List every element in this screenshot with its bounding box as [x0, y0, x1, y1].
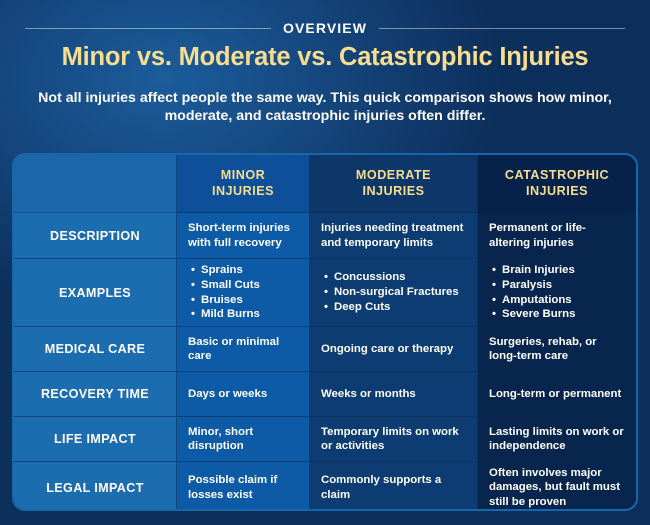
infographic-root: OVERVIEW Minor vs. Moderate vs. Catastro…: [0, 0, 650, 525]
table-row: MEDICAL CARE Basic or minimal care Ongoi…: [14, 327, 636, 372]
cell-examples-minor: SprainsSmall CutsBruisesMild Burns: [177, 259, 310, 327]
table-row: EXAMPLES SprainsSmall CutsBruisesMild Bu…: [14, 259, 636, 327]
row-label-legal-impact: LEGAL IMPACT: [14, 462, 177, 509]
bullet-item: Severe Burns: [502, 307, 625, 322]
row-label-text: DESCRIPTION: [25, 229, 165, 243]
header-catastrophic-line2: INJURIES: [489, 184, 625, 199]
bullet-item: Paralysis: [502, 278, 625, 293]
header-moderate-line2: INJURIES: [321, 184, 466, 199]
row-label-life-impact: LIFE IMPACT: [14, 417, 177, 462]
divider-line-left: [25, 28, 271, 29]
cell-medical-care-moderate: Ongoing care or therapy: [310, 327, 478, 372]
row-label-recovery-time: RECOVERY TIME: [14, 372, 177, 417]
row-label-text: MEDICAL CARE: [25, 342, 165, 356]
cell-text: Short-term injuries with full recovery: [188, 221, 298, 250]
bullet-item: Concussions: [334, 270, 466, 285]
comparison-table: MINOR INJURIES MODERATE INJURIES CATASTR…: [14, 155, 636, 509]
cell-medical-care-catastrophic: Surgeries, rehab, or long-term care: [478, 327, 636, 372]
cell-text: Long-term or permanent: [489, 387, 625, 401]
row-label-medical-care: MEDICAL CARE: [14, 327, 177, 372]
cell-life-impact-minor: Minor, short disruption: [177, 417, 310, 462]
page-subtitle: Not all injuries affect people the same …: [11, 89, 639, 126]
divider-line-right: [379, 28, 625, 29]
header-minor-line1: MINOR: [188, 168, 298, 183]
row-label-description: DESCRIPTION: [14, 213, 177, 259]
cell-text: Lasting limits on work or independence: [489, 425, 625, 454]
bullet-item: Amputations: [502, 293, 625, 308]
comparison-table-container: MINOR INJURIES MODERATE INJURIES CATASTR…: [12, 153, 638, 511]
bullet-item: Deep Cuts: [334, 300, 466, 315]
bullet-item: Small Cuts: [201, 278, 298, 293]
bullet-list: SprainsSmall CutsBruisesMild Burns: [188, 263, 298, 322]
cell-text: Commonly supports a claim: [321, 473, 466, 502]
cell-text: Permanent or life-altering injuries: [489, 221, 625, 250]
row-label-text: EXAMPLES: [25, 286, 165, 300]
bullet-item: Mild Burns: [201, 307, 298, 322]
cell-description-catastrophic: Permanent or life-altering injuries: [478, 213, 636, 259]
bullet-item: Bruises: [201, 293, 298, 308]
cell-recovery-time-moderate: Weeks or months: [310, 372, 478, 417]
overview-eyebrow-row: OVERVIEW: [0, 20, 650, 36]
bullet-list: ConcussionsNon-surgical FracturesDeep Cu…: [321, 270, 466, 314]
cell-description-minor: Short-term injuries with full recovery: [177, 213, 310, 259]
cell-text: Minor, short disruption: [188, 425, 298, 454]
header-catastrophic-line1: CATASTROPHIC: [489, 168, 625, 183]
cell-text: Temporary limits on work or activities: [321, 425, 466, 454]
header-cell-minor: MINOR INJURIES: [177, 155, 310, 213]
row-label-text: LIFE IMPACT: [25, 432, 165, 446]
bullet-item: Sprains: [201, 263, 298, 278]
row-label-examples: EXAMPLES: [14, 259, 177, 327]
cell-text: Weeks or months: [321, 387, 466, 401]
bullet-list: Brain InjuriesParalysisAmputationsSevere…: [489, 263, 625, 322]
cell-examples-catastrophic: Brain InjuriesParalysisAmputationsSevere…: [478, 259, 636, 327]
header-cell-moderate: MODERATE INJURIES: [310, 155, 478, 213]
cell-legal-impact-moderate: Commonly supports a claim: [310, 462, 478, 509]
cell-legal-impact-catastrophic: Often involves major damages, but fault …: [478, 462, 636, 509]
cell-text: Surgeries, rehab, or long-term care: [489, 335, 625, 364]
cell-examples-moderate: ConcussionsNon-surgical FracturesDeep Cu…: [310, 259, 478, 327]
cell-text: Days or weeks: [188, 387, 298, 401]
table-row: DESCRIPTION Short-term injuries with ful…: [14, 213, 636, 259]
cell-medical-care-minor: Basic or minimal care: [177, 327, 310, 372]
cell-recovery-time-catastrophic: Long-term or permanent: [478, 372, 636, 417]
cell-text: Basic or minimal care: [188, 335, 298, 364]
cell-text: Injuries needing treatment and temporary…: [321, 221, 466, 250]
bullet-item: Non-surgical Fractures: [334, 285, 466, 300]
table-header-row: MINOR INJURIES MODERATE INJURIES CATASTR…: [14, 155, 636, 213]
cell-life-impact-catastrophic: Lasting limits on work or independence: [478, 417, 636, 462]
header-section: OVERVIEW Minor vs. Moderate vs. Catastro…: [0, 0, 650, 126]
row-label-text: LEGAL IMPACT: [25, 481, 165, 495]
cell-text: Ongoing care or therapy: [321, 342, 466, 356]
cell-text: Possible claim if losses exist: [188, 473, 298, 502]
cell-life-impact-moderate: Temporary limits on work or activities: [310, 417, 478, 462]
page-title: Minor vs. Moderate vs. Catastrophic Inju…: [0, 43, 650, 72]
table-row: LIFE IMPACT Minor, short disruption Temp…: [14, 417, 636, 462]
table-row: RECOVERY TIME Days or weeks Weeks or mon…: [14, 372, 636, 417]
cell-description-moderate: Injuries needing treatment and temporary…: [310, 213, 478, 259]
cell-text: Often involves major damages, but fault …: [489, 466, 625, 509]
header-moderate-line1: MODERATE: [321, 168, 466, 183]
bullet-item: Brain Injuries: [502, 263, 625, 278]
row-label-text: RECOVERY TIME: [25, 387, 165, 401]
cell-legal-impact-minor: Possible claim if losses exist: [177, 462, 310, 509]
header-cell-blank: [14, 155, 177, 213]
table-row: LEGAL IMPACT Possible claim if losses ex…: [14, 462, 636, 509]
cell-recovery-time-minor: Days or weeks: [177, 372, 310, 417]
header-cell-catastrophic: CATASTROPHIC INJURIES: [478, 155, 636, 213]
header-minor-line2: INJURIES: [188, 184, 298, 199]
overview-label: OVERVIEW: [283, 20, 367, 36]
